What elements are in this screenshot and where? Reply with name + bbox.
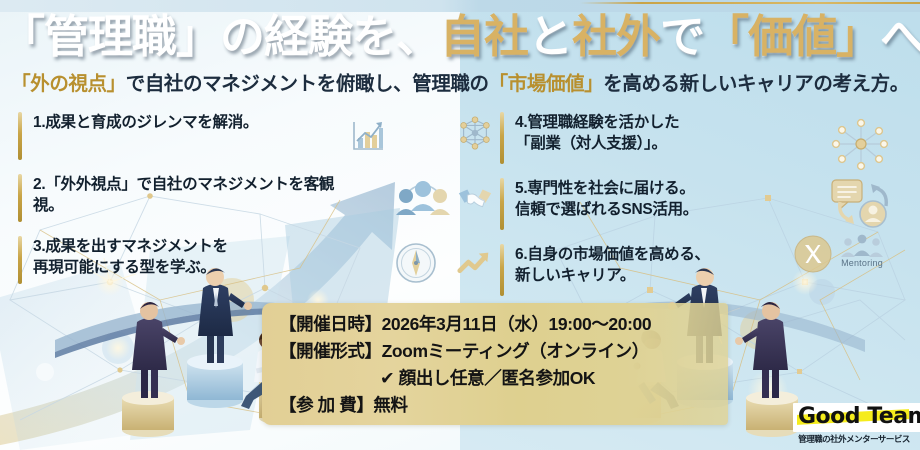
logo-wordmark-box: Good Team bbox=[793, 403, 920, 432]
title-part-7: へ。 bbox=[880, 11, 920, 62]
list-item: 3.成果を出すマネジメントを 再現可能にする型を学ぶ。 bbox=[18, 236, 348, 284]
network-hub-icon bbox=[826, 115, 896, 173]
subtitle-part-4: を高める新しいキャリアの考え方。 bbox=[603, 73, 909, 95]
team-people-icon bbox=[395, 177, 451, 219]
page-title: 「管理職」の経験を、自社と社外で「価値」へ。 bbox=[0, 8, 920, 66]
event-fee-row: 【参 加 費】無料 bbox=[279, 392, 408, 417]
brand-logo[interactable]: Good Team 管理職の社外メンターサービス bbox=[793, 403, 915, 445]
feedback-loop-icon bbox=[828, 176, 894, 232]
page-subtitle: 「外の視点」で自社のマネジメントを俯瞰し、管理職の「市場価値」を高める新しいキャ… bbox=[0, 70, 920, 98]
bullet-text-1: 1.成果と育成のジレンマを解消。 bbox=[33, 112, 258, 133]
title-part-1: 「管理職」の経験を、 bbox=[0, 11, 440, 62]
event-details-box: 【開催日時】2026年3月11日（水）19:00〜20:00 【開催形式】Zoo… bbox=[262, 303, 728, 425]
bullet-text-3: 3.成果を出すマネジメントを 再現可能にする型を学ぶ。 bbox=[33, 236, 228, 279]
mentoring-label: Mentoring bbox=[831, 258, 893, 268]
title-part-3: と bbox=[528, 11, 572, 62]
top-gold-rule bbox=[580, 2, 920, 4]
growth-arrow-icon bbox=[456, 246, 494, 284]
benefits-list-left: 1.成果と育成のジレンマを解消。 2.「外外視点」で自社のマネジメントを客観視。… bbox=[18, 112, 348, 298]
title-part-5: で bbox=[660, 11, 704, 62]
benefits-list-right: 4.管理職経験を活かした 「副業（対人支援）」。 5.専門性を社会に届ける。 信… bbox=[500, 112, 840, 310]
logo-wordmark: Good Team bbox=[798, 405, 920, 429]
list-item: 2.「外外視点」で自社のマネジメントを客観視。 bbox=[18, 174, 348, 222]
handshake-icon bbox=[456, 180, 494, 218]
poster-root: 「管理職」の経験を、自社と社外で「価値」へ。 「外の視点」で自社のマネジメントを… bbox=[0, 0, 920, 450]
bullet-accent-bar bbox=[18, 174, 22, 222]
network-nodes-icon bbox=[456, 114, 494, 152]
event-datetime-row: 【開催日時】2026年3月11日（水）19:00〜20:00 bbox=[279, 311, 651, 336]
bar-chart-growth-icon bbox=[348, 116, 388, 156]
list-item: 6.自身の市場価値を高める、 新しいキャリア。 bbox=[500, 244, 840, 296]
bullet-accent-bar bbox=[500, 244, 504, 296]
bullet-text-2: 2.「外外視点」で自社のマネジメントを客観視。 bbox=[33, 174, 348, 217]
list-item: 5.専門性を社会に届ける。 信頼で選ばれるSNS活用。 bbox=[500, 178, 840, 230]
title-part-4: 社外 bbox=[572, 11, 660, 62]
list-item: 1.成果と育成のジレンマを解消。 bbox=[18, 112, 348, 160]
bullet-text-6: 6.自身の市場価値を高める、 新しいキャリア。 bbox=[515, 244, 710, 287]
title-part-6: 「価値」 bbox=[704, 11, 880, 62]
bullet-text-4: 4.管理職経験を活かした 「副業（対人支援）」。 bbox=[515, 112, 679, 155]
subtitle-part-3: 「市場価値」 bbox=[489, 73, 604, 95]
bullet-accent-bar bbox=[500, 112, 504, 164]
bullet-accent-bar bbox=[18, 112, 22, 160]
compass-icon bbox=[393, 240, 439, 286]
event-note-row: ✔ 顔出し任意／匿名参加OK bbox=[380, 365, 595, 390]
title-part-2: 自社 bbox=[440, 11, 528, 62]
bullet-accent-bar bbox=[18, 236, 22, 284]
event-format-row: 【開催形式】Zoomミーティング（オンライン） bbox=[279, 338, 649, 363]
subtitle-part-2: で自社のマネジメントを俯瞰し、管理職の bbox=[126, 73, 489, 95]
subtitle-part-1: 「外の視点」 bbox=[11, 73, 126, 95]
x-social-icon bbox=[792, 233, 834, 275]
logo-tagline: 管理職の社外メンターサービス bbox=[793, 433, 915, 445]
bullet-accent-bar bbox=[500, 178, 504, 230]
bullet-text-5: 5.専門性を社会に届ける。 信頼で選ばれるSNS活用。 bbox=[515, 178, 698, 221]
list-item: 4.管理職経験を活かした 「副業（対人支援）」。 bbox=[500, 112, 840, 164]
mentoring-group-icon bbox=[838, 232, 886, 260]
